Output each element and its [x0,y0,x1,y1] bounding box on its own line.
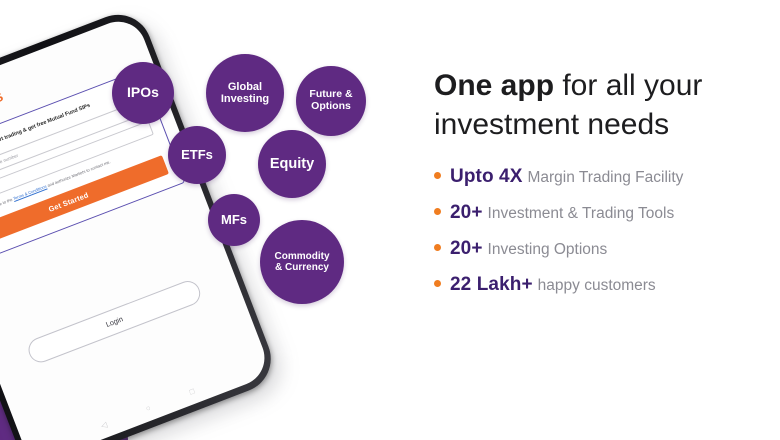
back-icon[interactable]: ◁ [99,420,108,431]
page-title: One app for all your [434,66,780,105]
category-bubble-label: Commodity& Currency [275,251,330,273]
category-bubble-ipos[interactable]: IPOs [112,62,174,124]
login-button[interactable]: Login [25,277,204,366]
category-bubble-equity[interactable]: Equity [258,130,326,198]
category-bubble-commodity-currency[interactable]: Commodity& Currency [260,220,344,304]
home-icon[interactable]: ○ [144,403,152,413]
feature-list-item: 22 Lakh+happy customers [434,274,780,296]
page-title-line2: investment needs [434,105,780,144]
bullet-dot-icon [434,244,441,251]
headline-rest: for all your [554,69,702,102]
category-bubble-label: Future &Options [309,89,352,113]
category-bubble-global-investing[interactable]: GlobalInvesting [206,54,284,132]
feature-list-item: 20+Investing Options [434,238,780,260]
feature-highlight: Upto 4X [450,166,522,187]
category-bubble-label: Equity [270,156,314,172]
feature-highlight: 20+ [450,238,483,259]
category-bubble-label: IPOs [127,85,159,101]
feature-text: Upto 4XMargin Trading Facility [450,166,683,188]
feature-list: Upto 4XMargin Trading Facility20+Investm… [434,166,780,296]
promo-copy: One app for all your investment needs Up… [434,66,780,310]
feature-description: Investment & Trading Tools [488,205,675,222]
feature-highlight: 20+ [450,202,483,223]
headline-strong: One app [434,69,554,102]
category-bubble-label: ETFs [181,148,213,163]
category-bubble-etfs[interactable]: ETFs [168,126,226,184]
feature-list-item: 20+Investment & Trading Tools [434,202,780,224]
feature-text: 20+Investment & Trading Tools [450,202,674,224]
bullet-dot-icon [434,280,441,287]
feature-text: 22 Lakh+happy customers [450,274,656,296]
feature-description: Investing Options [488,241,608,258]
feature-description: Margin Trading Facility [527,169,683,186]
bullet-dot-icon [434,172,441,179]
recents-icon[interactable]: □ [188,386,196,396]
category-bubble-mfs[interactable]: MFs [208,194,260,246]
feature-list-item: Upto 4XMargin Trading Facility [434,166,780,188]
feature-text: 20+Investing Options [450,238,607,260]
category-bubble-label: GlobalInvesting [221,81,269,106]
feature-description: happy customers [538,277,656,294]
promo-banner: MARKETS Open free account & start tradin… [0,0,780,440]
category-bubble-label: MFs [221,213,247,228]
category-bubble-future-options[interactable]: Future &Options [296,66,366,136]
feature-highlight: 22 Lakh+ [450,274,533,295]
bullet-dot-icon [434,208,441,215]
